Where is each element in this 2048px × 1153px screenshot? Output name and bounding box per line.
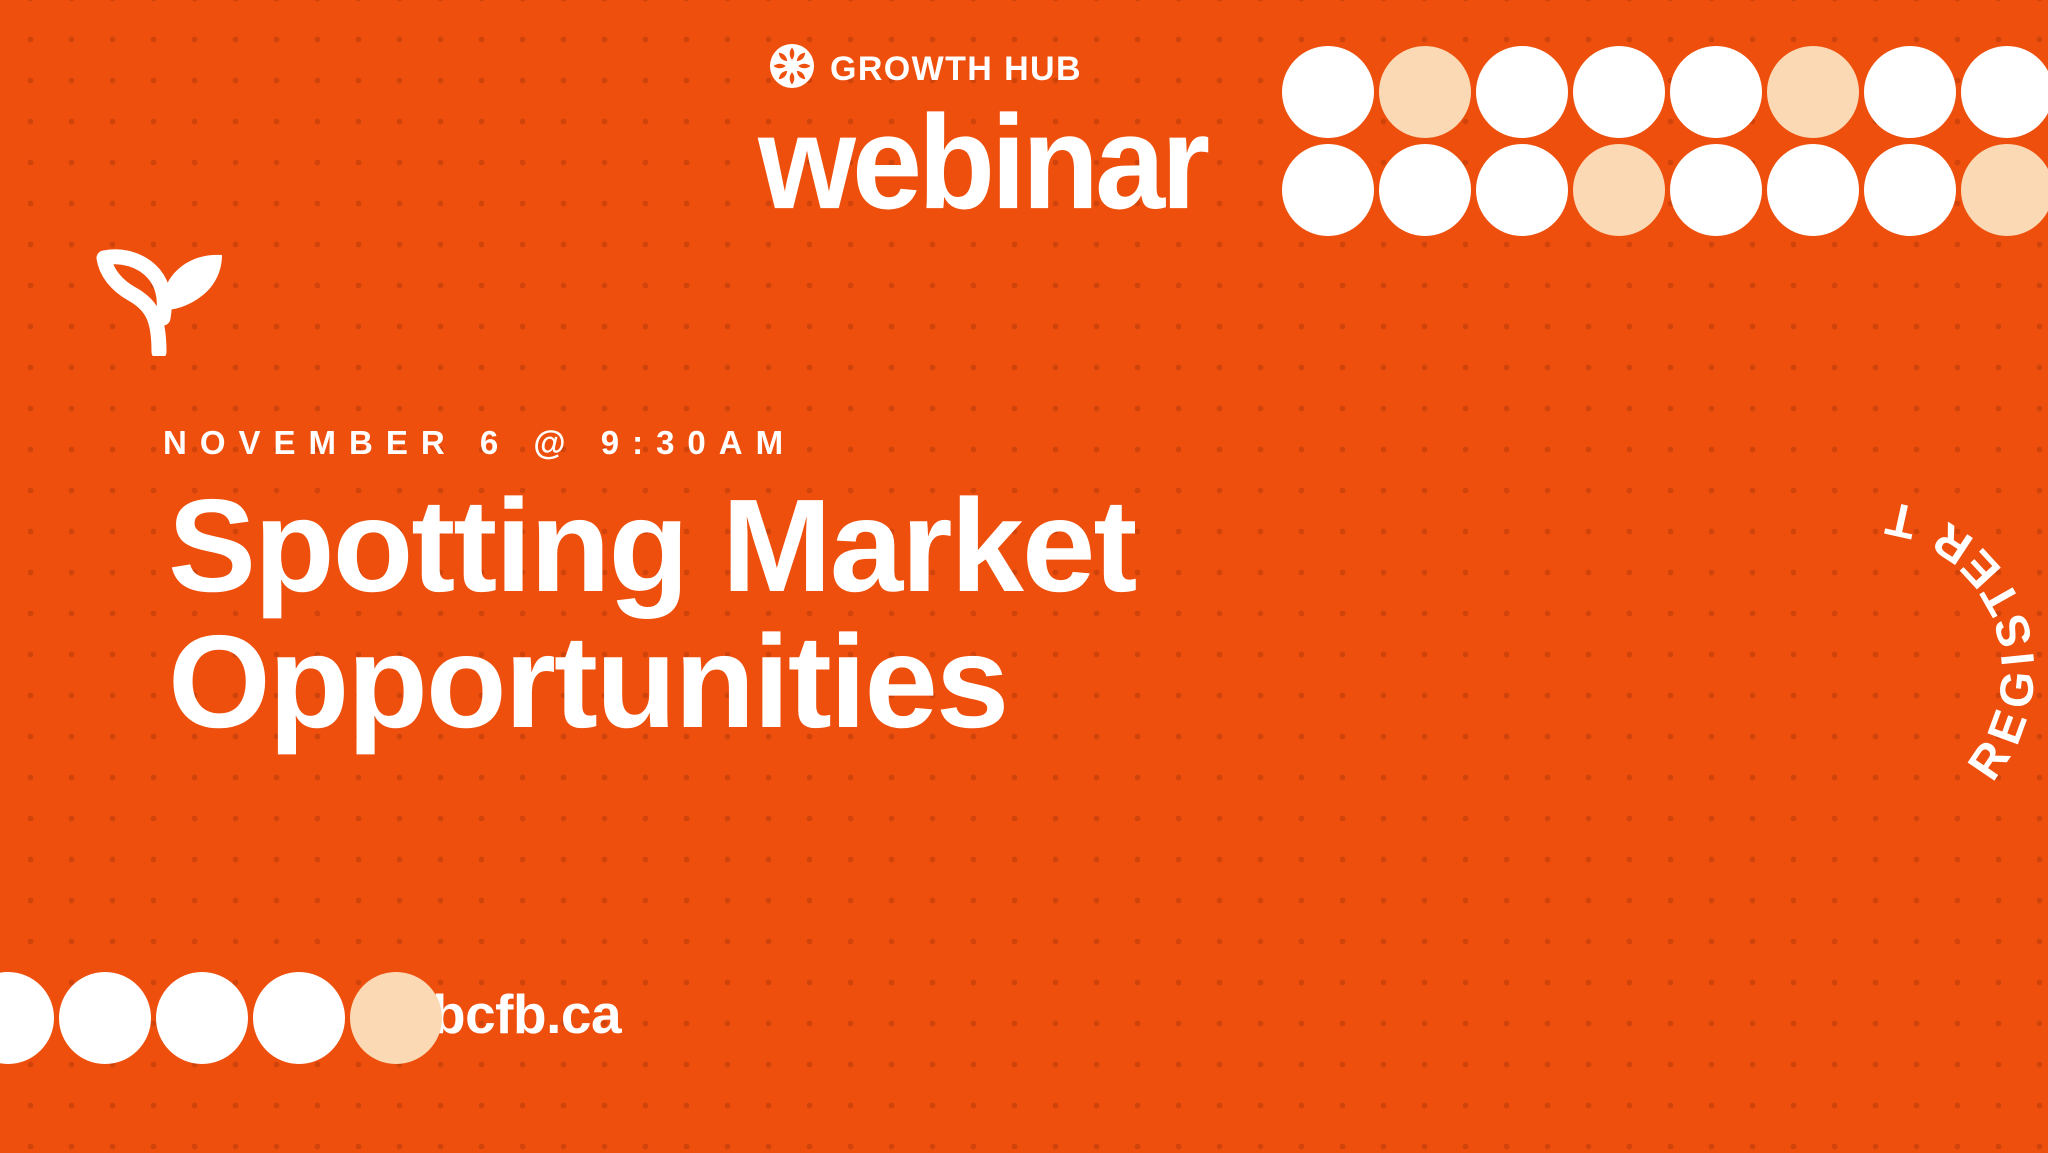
headline-line-2: Opportunities	[168, 614, 1498, 750]
decorative-circle-grid	[1282, 46, 2048, 236]
decorative-circle	[1379, 46, 1471, 138]
decorative-circle	[1864, 144, 1956, 236]
webinar-promo-poster: GROWTH HUB webinar NOVEMBER 6 @ 9:30AM S…	[0, 0, 2048, 1153]
decorative-circle	[1961, 46, 2048, 138]
decorative-circle	[1961, 144, 2048, 236]
decorative-circle	[1864, 46, 1956, 138]
brand-lockup: GROWTH HUB webinar	[762, 44, 1282, 219]
flower-emblem-icon	[770, 44, 814, 93]
decorative-circle	[1670, 144, 1762, 236]
decorative-circle	[1670, 46, 1762, 138]
register-today-circular-badge[interactable]: REGISTER TODAY!	[1664, 470, 2048, 870]
decorative-circle	[253, 972, 345, 1064]
event-date-time: NOVEMBER 6 @ 9:30AM	[163, 424, 796, 462]
decorative-circle	[1767, 46, 1859, 138]
decorative-circle	[0, 972, 54, 1064]
headline-line-1: Spotting Market	[168, 478, 1498, 614]
decorative-circle	[1379, 144, 1471, 236]
brand-name: GROWTH HUB	[830, 52, 1082, 86]
decorative-circle	[59, 972, 151, 1064]
decorative-circle-row-bottom	[0, 972, 442, 1064]
decorative-circle	[1282, 46, 1374, 138]
decorative-circle	[350, 972, 442, 1064]
decorative-circle	[156, 972, 248, 1064]
sprout-leaf-icon	[96, 248, 228, 361]
website-url[interactable]: bcfb.ca	[432, 982, 621, 1046]
decorative-circle	[1476, 144, 1568, 236]
decorative-circle	[1476, 46, 1568, 138]
decorative-circle	[1573, 144, 1665, 236]
brand-row: GROWTH HUB	[762, 44, 1282, 93]
register-today-text: REGISTER TODAY!	[1641, 427, 2045, 789]
page-title: Spotting Market Opportunities	[168, 478, 1498, 750]
decorative-circle	[1282, 144, 1374, 236]
decorative-circle	[1767, 144, 1859, 236]
webinar-wordmark: webinar	[758, 99, 1282, 226]
decorative-circle	[1573, 46, 1665, 138]
